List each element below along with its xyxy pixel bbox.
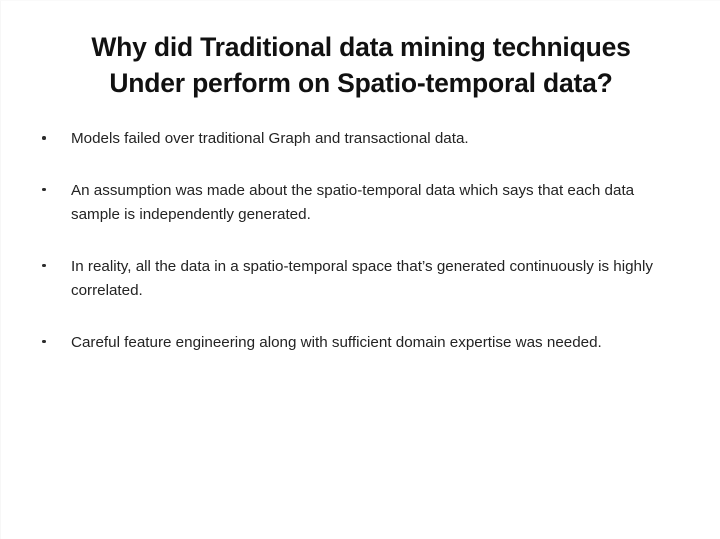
bullet-list: Models failed over traditional Graph and… [37,127,685,355]
list-item-text: Models failed over traditional Graph and… [71,127,685,152]
presentation-slide: Why did Traditional data mining techniqu… [0,0,720,539]
bullet-dot-icon [42,340,46,344]
page-title-line-2: Under perform on Spatio-temporal data? [1,65,720,101]
list-item-text: An assumption was made about the spatio-… [71,179,685,228]
list-item: In reality, all the data in a spatio-tem… [37,255,685,304]
list-item: Careful feature engineering along with s… [37,331,685,356]
bullet-dot-icon [42,188,46,192]
page-title-line-1: Why did Traditional data mining techniqu… [1,29,720,65]
list-item-text: Careful feature engineering along with s… [71,331,685,356]
bullet-dot-icon [42,136,46,140]
list-item-text: In reality, all the data in a spatio-tem… [71,255,685,304]
bullet-dot-icon [42,264,46,268]
page-title: Why did Traditional data mining techniqu… [1,29,720,101]
list-item: An assumption was made about the spatio-… [37,179,685,228]
list-item: Models failed over traditional Graph and… [37,127,685,152]
